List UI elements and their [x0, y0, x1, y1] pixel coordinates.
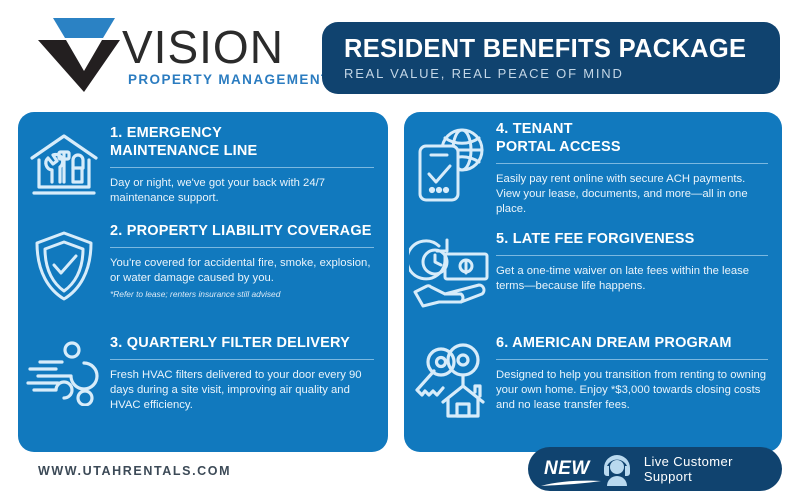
new-label: NEW — [544, 458, 590, 480]
hand-money-clock-icon — [404, 230, 496, 308]
badge-label: Live Customer Support — [644, 454, 733, 484]
benefit-description: Get a one-time waiver on late fees withi… — [496, 264, 768, 294]
house-with-tools-icon — [18, 124, 110, 204]
benefit-divider — [110, 167, 374, 168]
benefit-item-6: 6. AMERICAN DREAM PROGRAM Designed to he… — [404, 334, 782, 418]
header-banner: RESIDENT BENEFITS PACKAGE REAL VALUE, RE… — [322, 22, 780, 94]
benefit-title: 4. TENANT PORTAL ACCESS — [496, 120, 768, 156]
benefit-item-3: 3. QUARTERLY FILTER DELIVERY Fresh HVAC … — [18, 334, 388, 413]
headset-support-icon — [600, 452, 634, 486]
logo-wordmark: VISION — [122, 24, 284, 70]
benefit-divider — [496, 163, 768, 164]
swoosh-underline-icon — [540, 480, 602, 487]
benefit-title: 5. LATE FEE FORGIVENESS — [496, 230, 768, 248]
benefit-description: You're covered for accidental fire, smok… — [110, 256, 374, 286]
live-support-badge[interactable]: NEW Live Customer Support — [528, 447, 782, 491]
airflow-filter-icon — [18, 334, 110, 406]
benefits-card-left: 1. EMERGENCY MAINTENANCE LINE Day or nig… — [18, 112, 388, 452]
keys-house-icon — [404, 334, 496, 418]
benefit-divider — [110, 359, 374, 360]
benefit-title: 3. QUARTERLY FILTER DELIVERY — [110, 334, 374, 352]
benefit-footnote: *Refer to lease; renters insurance still… — [110, 288, 374, 300]
benefit-item-4: 4. TENANT PORTAL ACCESS Easily pay rent … — [404, 120, 782, 217]
benefit-item-1: 1. EMERGENCY MAINTENANCE LINE Day or nig… — [18, 124, 388, 206]
benefits-card-right: 4. TENANT PORTAL ACCESS Easily pay rent … — [404, 112, 782, 452]
page-header: VISION PROPERTY MANAGEMENT RESIDENT BENE… — [0, 0, 800, 108]
page-title: RESIDENT BENEFITS PACKAGE — [344, 35, 780, 63]
new-label-text: NEW — [544, 458, 590, 479]
page-subtitle: REAL VALUE, REAL PEACE OF MIND — [344, 66, 780, 81]
vision-v-logo-icon — [36, 16, 122, 94]
benefit-divider — [110, 247, 374, 248]
benefit-title: 1. EMERGENCY MAINTENANCE LINE — [110, 124, 374, 160]
logo-tagline: PROPERTY MANAGEMENT — [128, 72, 331, 87]
benefit-divider — [496, 255, 768, 256]
benefit-description: Designed to help you transition from ren… — [496, 368, 768, 413]
shield-check-icon — [18, 222, 110, 304]
benefit-divider — [496, 359, 768, 360]
benefit-item-5: 5. LATE FEE FORGIVENESS Get a one-time w… — [404, 230, 782, 308]
phone-globe-icon — [404, 120, 496, 204]
benefit-title: 6. AMERICAN DREAM PROGRAM — [496, 334, 768, 352]
benefit-description: Day or night, we've got your back with 2… — [110, 176, 374, 206]
footer-website-url[interactable]: WWW.UTAHRENTALS.COM — [38, 464, 231, 478]
benefit-title: 2. PROPERTY LIABILITY COVERAGE — [110, 222, 374, 240]
brand-logo: VISION PROPERTY MANAGEMENT — [36, 12, 306, 94]
benefit-item-2: 2. PROPERTY LIABILITY COVERAGE You're co… — [18, 222, 388, 304]
benefit-description: Fresh HVAC filters delivered to your doo… — [110, 368, 374, 413]
benefit-description: Easily pay rent online with secure ACH p… — [496, 172, 768, 217]
